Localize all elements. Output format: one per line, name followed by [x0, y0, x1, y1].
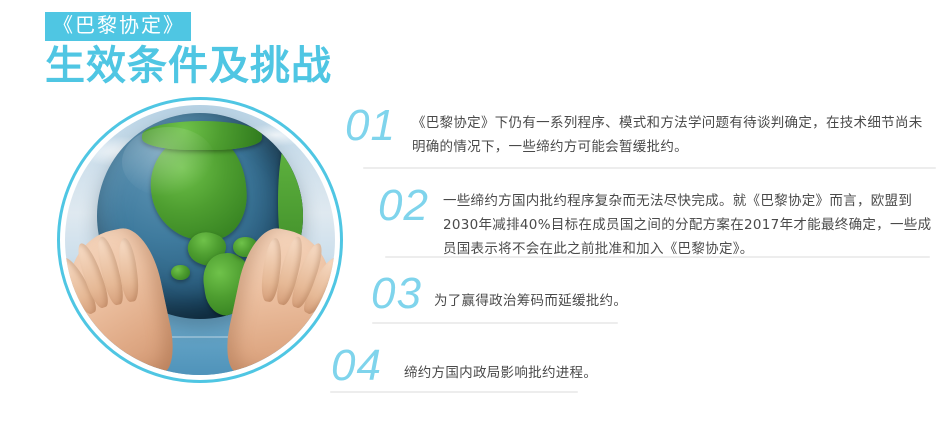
list-item-text: 缔约方国内政局影响批约进程。 [382, 344, 597, 385]
list-item-text: 一些缔约方国内批约程序复杂而无法尽快完成。就《巴黎协定》而言，欧盟到2030年减… [429, 184, 933, 261]
image-clip [65, 105, 335, 375]
divider [363, 167, 936, 169]
list-item-number: 03 [371, 272, 422, 316]
divider [372, 322, 618, 324]
continent-shape [171, 265, 190, 279]
list-item: 01 《巴黎协定》下仍有一系列程序、模式和方法学问题有待谈判确定，在技术细节尚未… [345, 104, 935, 159]
list-item: 04 缔约方国内政局影响批约进程。 [331, 344, 597, 388]
hands-holding-earth-image [57, 97, 343, 383]
list-item-number: 04 [331, 344, 382, 388]
list-item: 03 为了赢得政治筹码而延缓批约。 [371, 272, 627, 316]
list-item-text: 为了赢得政治筹码而延缓批约。 [422, 272, 627, 313]
divider [385, 256, 930, 258]
infographic-page: 《巴黎协定》 生效条件及挑战 [0, 0, 950, 428]
list-item-number: 02 [378, 184, 429, 228]
list-item: 02 一些缔约方国内批约程序复杂而无法尽快完成。就《巴黎协定》而言，欧盟到203… [378, 184, 933, 261]
list-item-number: 01 [345, 104, 396, 148]
divider [330, 391, 578, 393]
list-item-text: 《巴黎协定》下仍有一系列程序、模式和方法学问题有待谈判确定，在技术细节尚未明确的… [396, 104, 935, 159]
